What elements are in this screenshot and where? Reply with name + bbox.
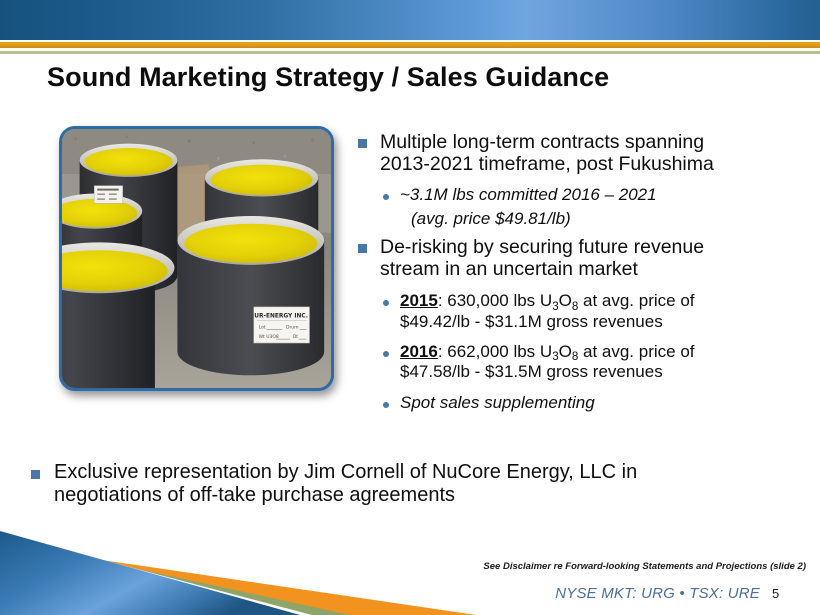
bullet-text: Spot sales supplementing xyxy=(400,393,595,413)
bullet-line: Multiple long-term contracts spanning xyxy=(380,131,714,153)
bullet-text: Multiple long-term contracts spanning 20… xyxy=(380,131,714,175)
bullet-line: negotiations of off-take purchase agreem… xyxy=(54,484,637,507)
bullet-text: Exclusive representation by Jim Cornell … xyxy=(54,461,637,507)
svg-text:Drum: Drum xyxy=(286,324,299,330)
square-bullet-icon xyxy=(358,139,367,148)
bullet-line: 2013-2021 timeframe, post Fukushima xyxy=(380,153,714,175)
round-bullet-icon xyxy=(383,351,389,357)
year-emphasis-2016: 2016 xyxy=(400,342,438,361)
slide-canvas: Sound Marketing Strategy / Sales Guidanc… xyxy=(0,0,820,615)
subscript-8: 8 xyxy=(572,301,578,313)
slide-number: 5 xyxy=(772,586,779,601)
drum-label-ur-energy: UR-ENERGY INC. Lot Drum Wt U3O8 Dt xyxy=(254,307,310,343)
page-title: Sound Marketing Strategy / Sales Guidanc… xyxy=(47,62,609,93)
bullet-text: ~3.1M lbs committed 2016 – 2021 xyxy=(400,185,657,205)
bullet-line: Exclusive representation by Jim Cornell … xyxy=(54,461,637,484)
round-bullet-icon xyxy=(383,194,389,200)
bullet-line: $49.42/lb - $31.1M gross revenues xyxy=(400,312,695,332)
bullet-text: De-risking by securing future revenue st… xyxy=(380,236,704,280)
corner-blue-triangle xyxy=(0,531,300,615)
round-bullet-icon xyxy=(383,402,389,408)
bullet-text: 2015: 630,000 lbs U3O8 at avg. price of … xyxy=(400,291,695,332)
bullet-exclusive-representation: Exclusive representation by Jim Cornell … xyxy=(31,461,791,507)
bullet-line: $47.58/lb - $31.5M gross revenues xyxy=(400,362,695,382)
drum-label-small xyxy=(94,186,122,204)
bullet-level2-2016-sales: 2016: 662,000 lbs U3O8 at avg. price of … xyxy=(383,342,778,383)
svg-text:UR-ENERGY INC.: UR-ENERGY INC. xyxy=(254,314,308,320)
bullet-line: 2016: 662,000 lbs U3O8 at avg. price of xyxy=(400,342,695,362)
round-bullet-icon xyxy=(383,300,389,306)
header-blue-band xyxy=(0,0,820,40)
subscript-8: 8 xyxy=(572,351,578,363)
bullet-line: 2015: 630,000 lbs U3O8 at avg. price of xyxy=(400,291,695,311)
bullet-continuation-avg-price: (avg. price $49.81/lb) xyxy=(411,209,778,229)
header-rule-white-3 xyxy=(0,54,820,57)
svg-text:Dt: Dt xyxy=(293,334,298,340)
bullet-level1-contracts: Multiple long-term contracts spanning 20… xyxy=(358,131,778,175)
bullet-line: stream in an uncertain market xyxy=(380,258,704,280)
svg-text:Wt U3O8: Wt U3O8 xyxy=(259,334,279,340)
sales-detail: : 630,000 lbs U3O8 at avg. price of xyxy=(438,291,695,310)
subscript-3: 3 xyxy=(552,301,558,313)
square-bullet-icon xyxy=(31,470,40,479)
bullet-level2-2015-sales: 2015: 630,000 lbs U3O8 at avg. price of … xyxy=(383,291,778,332)
bullet-line: De-risking by securing future revenue xyxy=(380,236,704,258)
bullet-list-main: Multiple long-term contracts spanning 20… xyxy=(358,131,778,413)
bullet-text: 2016: 662,000 lbs U3O8 at avg. price of … xyxy=(400,342,695,383)
year-emphasis-2015: 2015 xyxy=(400,291,438,310)
corner-decoration xyxy=(0,505,520,615)
yellowcake-drums-photo: UR-ENERGY INC. Lot Drum Wt U3O8 Dt xyxy=(59,126,334,391)
bullet-level1-derisking: De-risking by securing future revenue st… xyxy=(358,236,778,280)
bullet-level2-spot-sales: Spot sales supplementing xyxy=(383,393,778,413)
subscript-3: 3 xyxy=(552,351,558,363)
bullet-level2-committed-lbs: ~3.1M lbs committed 2016 – 2021 xyxy=(383,185,778,205)
square-bullet-icon xyxy=(358,244,367,253)
svg-text:Lot: Lot xyxy=(259,324,266,330)
sales-detail: : 662,000 lbs U3O8 at avg. price of xyxy=(438,342,695,361)
